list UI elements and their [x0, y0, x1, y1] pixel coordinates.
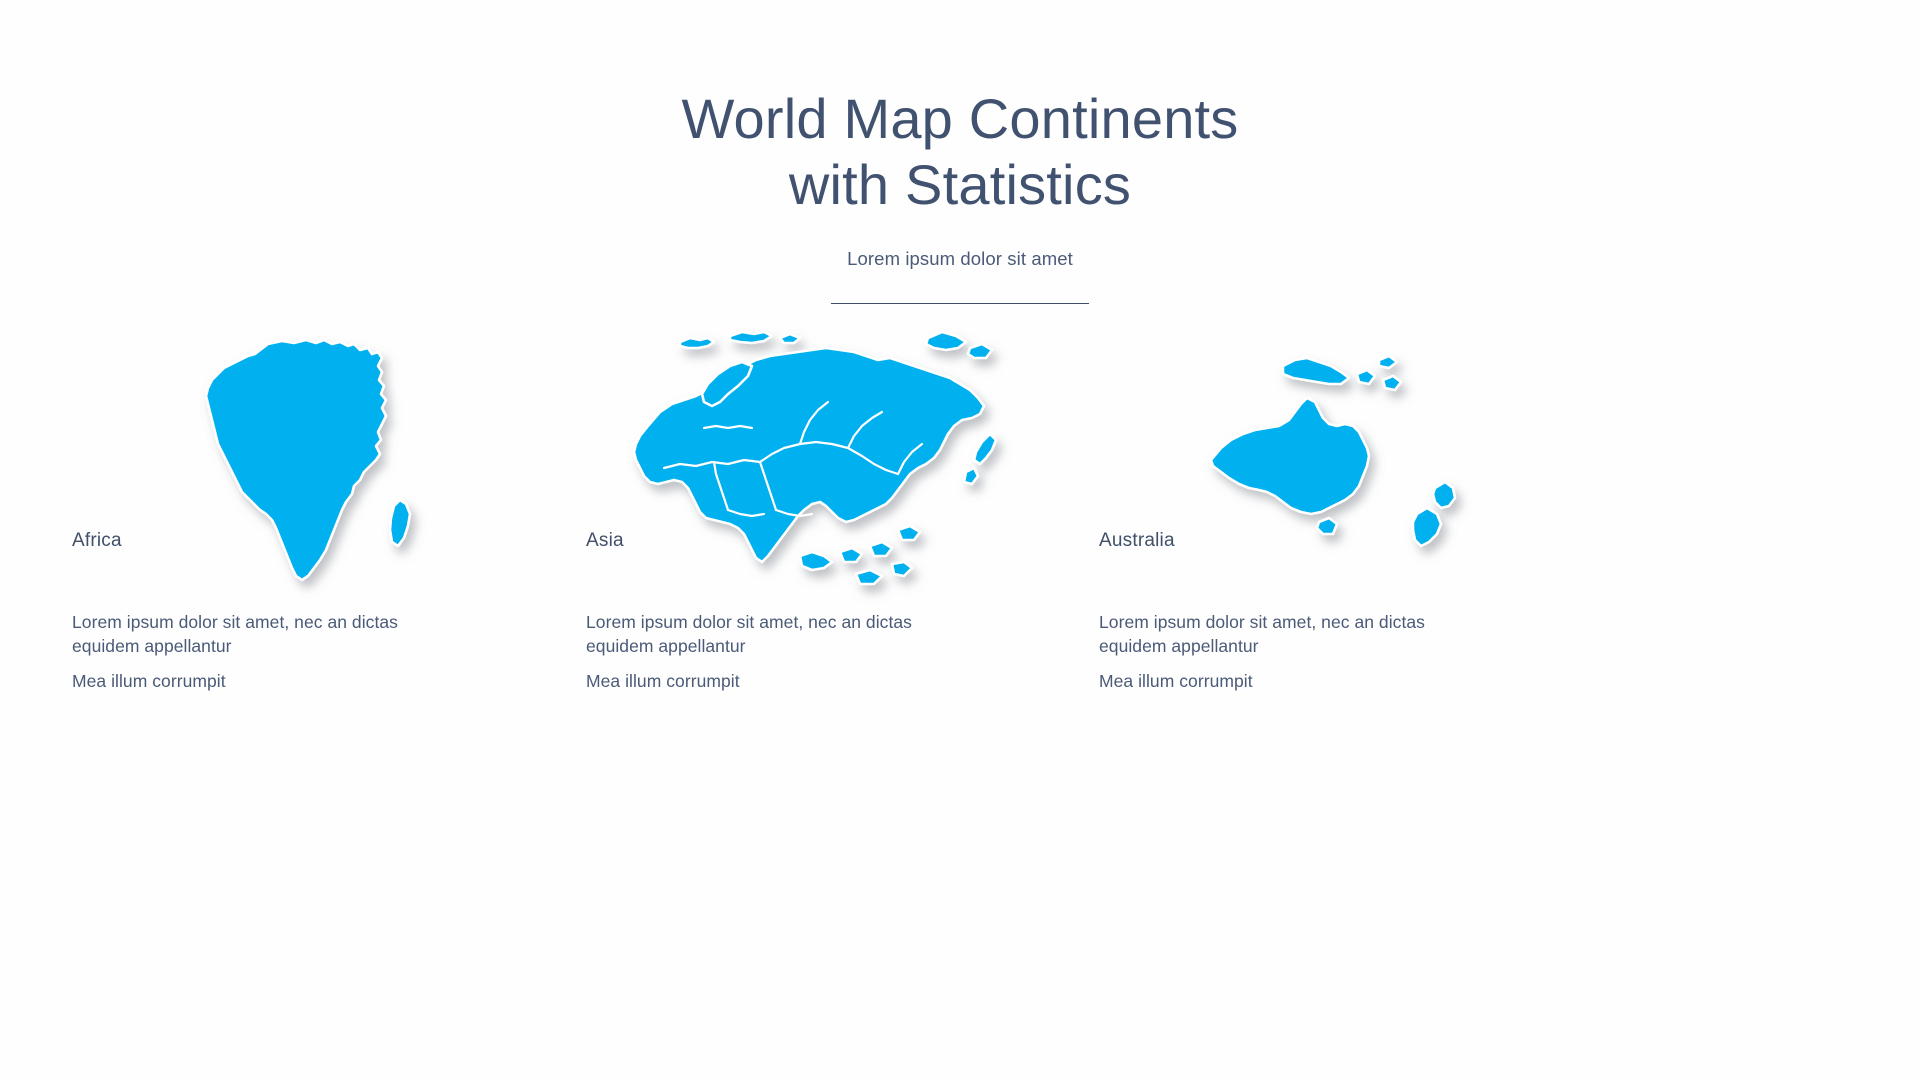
page-subtitle: Lorem ipsum dolor sit amet	[0, 218, 1920, 270]
continent-label-asia: Asia	[586, 530, 624, 552]
asia-map-icon[interactable]	[604, 308, 1024, 608]
continent-column-asia: Asia Lorem ipsum dolor sit amet, nec an …	[586, 330, 1101, 930]
slide-canvas: World Map Continents with Statistics Lor…	[0, 0, 1920, 1080]
slide-header: World Map Continents with Statistics Lor…	[0, 86, 1920, 304]
page-title: World Map Continents with Statistics	[0, 86, 1920, 218]
map-stage-asia	[586, 330, 1101, 620]
map-stage-africa	[72, 330, 587, 620]
continent-label-africa: Africa	[72, 530, 122, 552]
continent-column-africa: Africa Lorem ipsum dolor sit amet, nec a…	[72, 330, 587, 930]
continent-label-australia: Australia	[1099, 530, 1175, 552]
continent-description-asia: Lorem ipsum dolor sit amet, nec an dicta…	[586, 611, 946, 659]
continent-description-africa: Lorem ipsum dolor sit amet, nec an dicta…	[72, 611, 432, 659]
continent-column-australia: Australia Lorem ipsum dolor sit amet, ne…	[1099, 330, 1614, 930]
continent-note-australia: Mea illum corrumpit	[1099, 670, 1459, 694]
title-divider	[831, 303, 1089, 304]
continent-columns: Africa Lorem ipsum dolor sit amet, nec a…	[0, 330, 1920, 930]
africa-map-icon[interactable]	[182, 328, 442, 618]
continent-description-australia: Lorem ipsum dolor sit amet, nec an dicta…	[1099, 611, 1459, 659]
continent-note-africa: Mea illum corrumpit	[72, 670, 432, 694]
australia-map-icon[interactable]	[1191, 344, 1491, 604]
continent-note-asia: Mea illum corrumpit	[586, 670, 946, 694]
map-stage-australia	[1099, 330, 1614, 620]
